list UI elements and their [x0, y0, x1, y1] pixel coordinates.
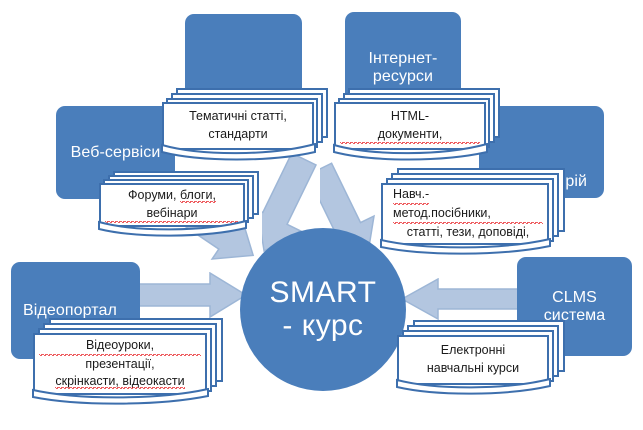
- diagram-canvas: Вікі-портал Інтернет- ресурси Веб-сервіс…: [0, 0, 643, 430]
- card-text-video-portal: Відеоуроки, презентації, скрінкасти, від…: [35, 337, 205, 391]
- center-label-line2: - курс: [282, 309, 363, 343]
- card-line-1a: Форуми,: [128, 188, 180, 202]
- card-line-1: Тематичні статті,: [168, 108, 308, 126]
- card-line-3b: відеокасти: [122, 374, 184, 389]
- card-line-2: стандарти: [168, 126, 308, 144]
- card-front-internet-resources: HTML- документи,: [334, 102, 486, 150]
- card-line-3: статті, тези, доповіді,: [393, 224, 543, 242]
- card-text-repository: Навч.- метод.посібники, статті, тези, до…: [383, 186, 547, 241]
- card-stack-repository[interactable]: Навч.- метод.посібники, статті, тези, до…: [381, 168, 581, 252]
- card-line-3a: скрінкасти,: [55, 374, 122, 389]
- card-line-1: Електронні: [403, 342, 543, 360]
- card-text-web-services: Форуми, блоги, вебінари: [101, 187, 243, 224]
- label-text-internet-resources-line2: ресурси: [373, 68, 433, 86]
- arrow-clms-to-center: [400, 278, 524, 322]
- card-line-3: скрінкасти, відеокасти: [39, 373, 201, 391]
- card-line-2: навчальні курси: [403, 360, 543, 378]
- card-line-2: вебінари: [105, 205, 239, 224]
- card-text-clms-system: Електронні навчальні курси: [399, 342, 547, 378]
- label-text-web-services: Веб-сервіси: [71, 144, 161, 162]
- card-stack-web-services[interactable]: Форуми, блоги, вебінари: [99, 171, 264, 233]
- card-stack-internet-resources[interactable]: HTML- документи,: [334, 88, 502, 156]
- card-line-1: Навч.-: [393, 186, 429, 205]
- card-front-clms-system: Електронні навчальні курси: [397, 335, 549, 385]
- card-front-repository: Навч.- метод.посібники, статті, тези, до…: [381, 183, 549, 245]
- card-line-1b: блоги,: [180, 188, 216, 203]
- card-line-1: Відеоуроки,: [39, 337, 201, 356]
- card-front-wiki-portal: Тематичні статті, стандарти: [162, 102, 314, 150]
- label-text-video-portal: Відеопортал: [23, 302, 117, 320]
- card-line-2: презентації,: [39, 356, 201, 374]
- card-line-1: HTML-: [340, 108, 480, 126]
- arrow-video-to-center: [124, 272, 248, 320]
- card-front-video-portal: Відеоуроки, презентації, скрінкасти, від…: [33, 333, 207, 395]
- center-node-smart-course[interactable]: SMART - курс: [240, 228, 406, 391]
- card-stack-video-portal[interactable]: Відеоуроки, презентації, скрінкасти, від…: [33, 318, 238, 404]
- card-line-2: метод.посібники,: [393, 205, 543, 224]
- card-stack-clms-system[interactable]: Електронні навчальні курси: [397, 320, 587, 392]
- label-text-internet-resources-line1: Інтернет-: [369, 50, 438, 68]
- label-text-clms-system-line1: CLMS: [552, 289, 597, 307]
- center-label-line1: SMART: [270, 277, 377, 309]
- card-line-1: Форуми, блоги,: [105, 187, 239, 205]
- card-stack-wiki-portal[interactable]: Тематичні статті, стандарти: [162, 88, 330, 156]
- card-text-internet-resources: HTML- документи,: [336, 108, 484, 145]
- card-text-wiki-portal: Тематичні статті, стандарти: [164, 108, 312, 144]
- card-front-web-services: Форуми, блоги, вебінари: [99, 183, 245, 227]
- card-line-2: документи,: [340, 126, 480, 145]
